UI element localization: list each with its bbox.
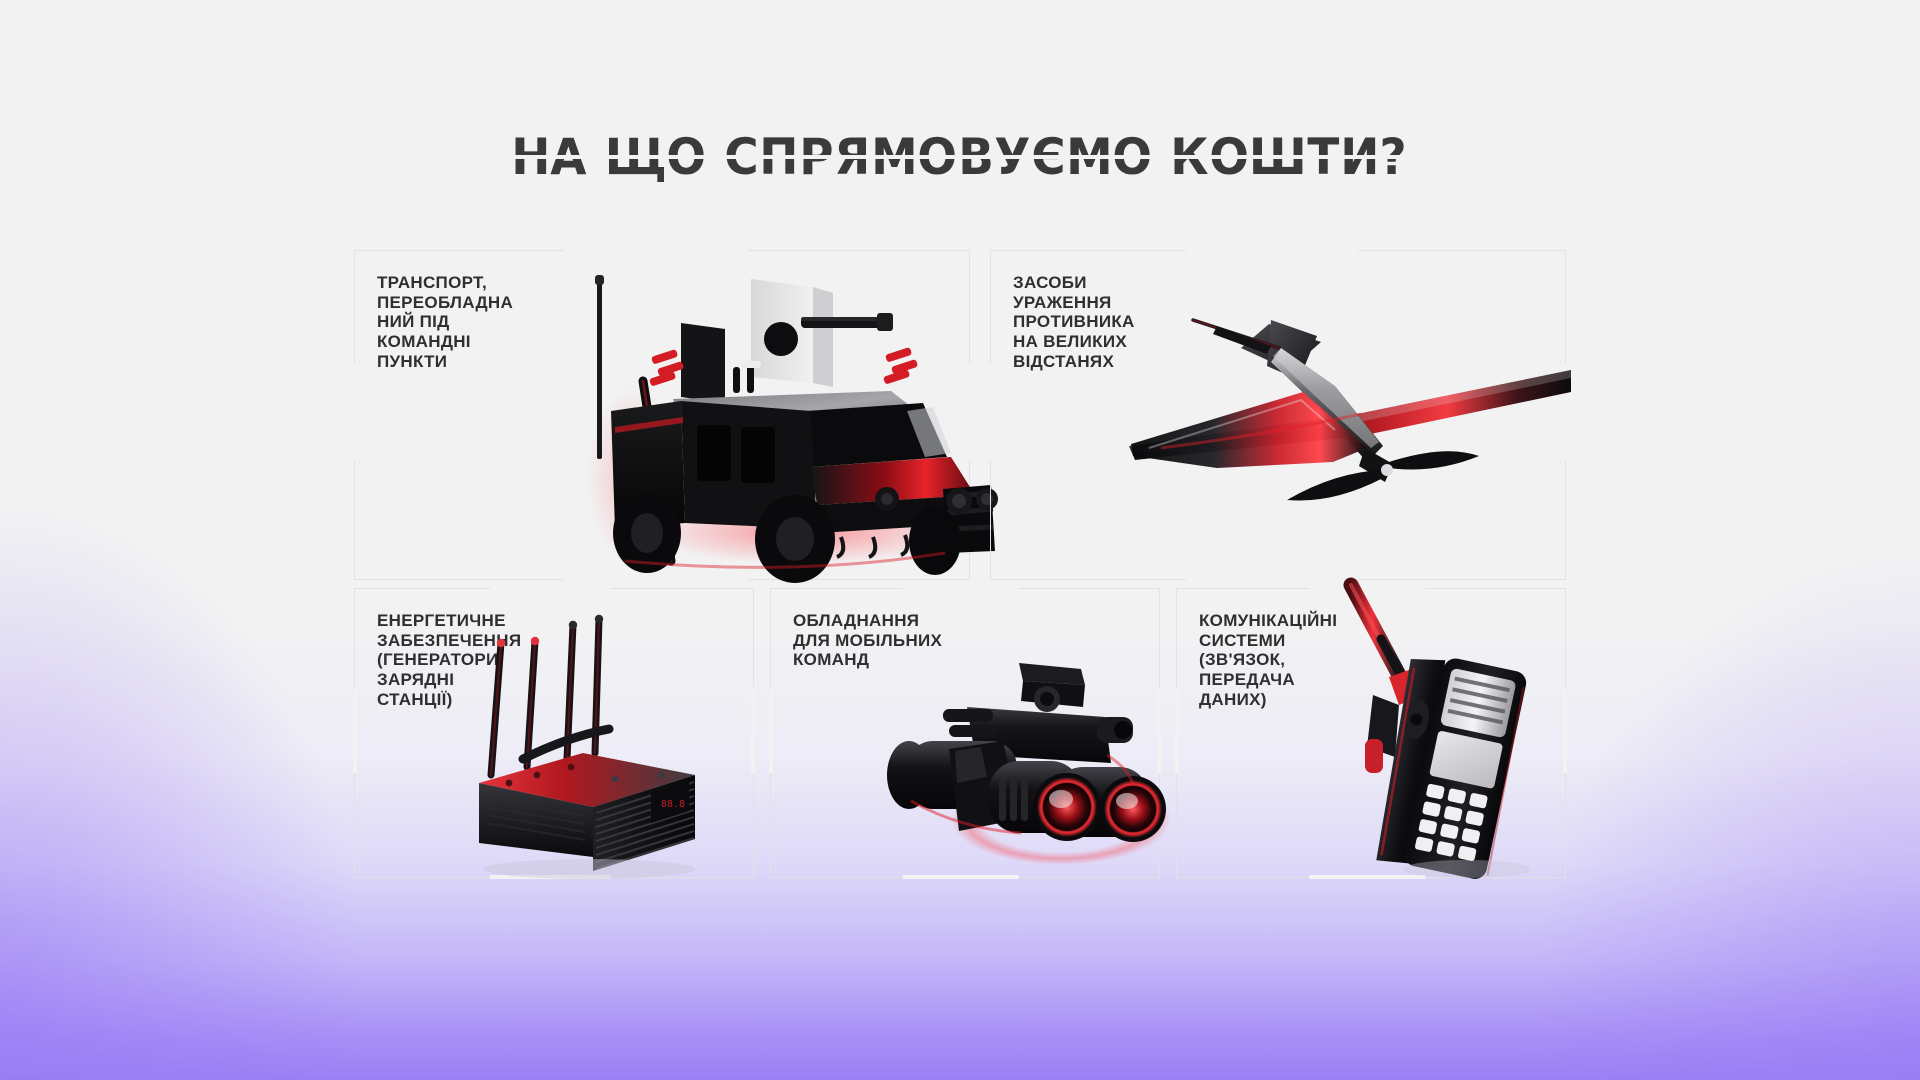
card-power-supply[interactable]: ЕНЕРГЕТИЧНЕ ЗАБЕЗПЕЧЕННЯ (ГЕНЕРАТОРИ, ЗА… <box>354 588 754 878</box>
title-glyph: Щ <box>605 128 669 186</box>
card-label-transport: ТРАНСПОРТ, ПЕРЕОБЛАДНА НИЙ ПІД КОМАНДНІ … <box>377 273 513 372</box>
card-label-long-range-strike: ЗАСОБИ УРАЖЕННЯ ПРОТИВНИКА НА ВЕЛИКИХ ВІ… <box>1013 273 1135 372</box>
card-mobile-teams[interactable]: ОБЛАДНАННЯ ДЛЯ МОБІЛЬНИХ КОМАНД <box>770 588 1160 878</box>
title-glyph: В <box>958 128 996 186</box>
card-border-notch-right <box>1563 687 1567 773</box>
card-border-notch-top <box>564 249 748 253</box>
title-glyph: Н <box>511 128 552 186</box>
title-glyph <box>707 128 725 186</box>
title-glyph: А <box>551 128 589 186</box>
card-long-range-strike[interactable]: ЗАСОБИ УРАЖЕННЯ ПРОТИВНИКА НА ВЕЛИКИХ ВІ… <box>990 250 1566 580</box>
title-glyph: Т <box>1307 128 1341 186</box>
title-glyph: Ш <box>1249 128 1309 186</box>
card-border-notch-bottom <box>1309 875 1425 879</box>
title-glyph: О <box>667 128 709 186</box>
card-border-notch-bottom <box>490 875 609 879</box>
card-border-notch-left <box>353 687 357 773</box>
card-border-notch-bottom <box>1186 577 1358 581</box>
card-border-notch-right <box>1563 363 1567 461</box>
card-border-notch-right <box>751 687 755 773</box>
armored-vehicle-image <box>555 261 1005 581</box>
card-border-notch-bottom <box>564 577 748 581</box>
card-label-power-supply: ЕНЕРГЕТИЧНЕ ЗАБЕЗПЕЧЕННЯ (ГЕНЕРАТОРИ, ЗА… <box>377 611 521 710</box>
title-glyph: ? <box>1380 128 1409 186</box>
title-glyph: И <box>1340 128 1381 186</box>
card-border-notch-bottom <box>903 875 1019 879</box>
title-glyph: П <box>760 128 801 186</box>
card-border-notch-top <box>1309 587 1425 591</box>
card-border-notch-left <box>989 363 993 461</box>
card-border-notch-right <box>1157 687 1161 773</box>
card-border-notch-right <box>967 363 971 461</box>
card-transport[interactable]: ТРАНСПОРТ, ПЕРЕОБЛАДНА НИЙ ПІД КОМАНДНІ … <box>354 250 970 580</box>
handheld-radio-image <box>1337 579 1577 879</box>
fixed-wing-drone-image <box>1121 296 1571 526</box>
title-glyph: Р <box>799 128 835 186</box>
title-glyph <box>1153 128 1171 186</box>
card-border-notch-top <box>903 587 1019 591</box>
card-border-notch-left <box>1175 687 1179 773</box>
title-glyph: Я <box>834 128 872 186</box>
card-communications[interactable]: КОМУНІКАЦІЙНІ СИСТЕМИ (ЗВ'ЯЗОК, ПЕРЕДАЧА… <box>1176 588 1566 878</box>
title-glyph: У <box>994 128 1032 186</box>
card-border-notch-top <box>1186 249 1358 253</box>
card-label-mobile-teams: ОБЛАДНАННЯ ДЛЯ МОБІЛЬНИХ КОМАНД <box>793 611 942 670</box>
night-vision-goggles-image <box>871 659 1171 869</box>
title-glyph: М <box>871 128 920 186</box>
title-glyph <box>588 128 606 186</box>
title-glyph: О <box>1209 128 1251 186</box>
svg-text:88.8: 88.8 <box>661 799 685 810</box>
title-glyph: О <box>918 128 960 186</box>
title-glyph: К <box>1171 128 1211 186</box>
card-border-notch-top <box>490 587 609 591</box>
card-label-communications: КОМУНІКАЦІЙНІ СИСТЕМИ (ЗВ'ЯЗОК, ПЕРЕДАЧА… <box>1199 611 1337 710</box>
title-glyph: М <box>1066 128 1115 186</box>
title-glyph: О <box>1113 128 1155 186</box>
title-glyph: С <box>725 128 761 186</box>
card-border-notch-left <box>769 687 773 773</box>
page-title: НА ЩО СПРЯМОВУЄМО КОШТИ? <box>0 128 1920 186</box>
card-border-notch-left <box>353 363 357 461</box>
title-glyph: Є <box>1031 128 1067 186</box>
